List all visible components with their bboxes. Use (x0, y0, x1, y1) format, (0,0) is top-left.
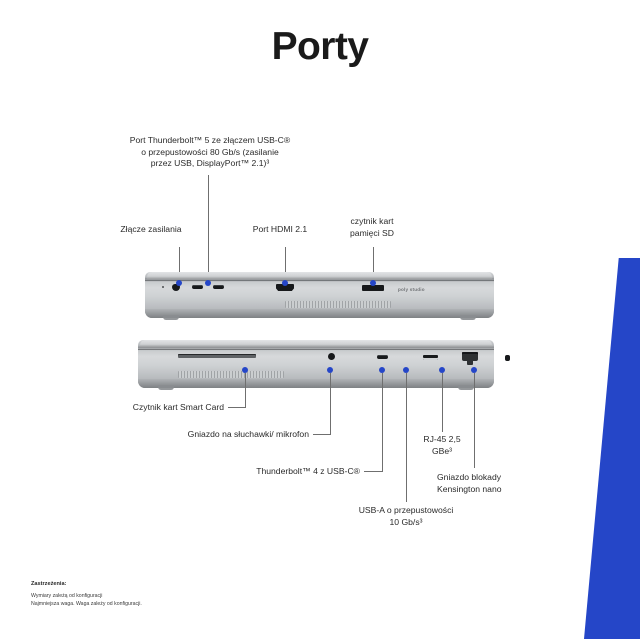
laptop-base-shadow (145, 309, 494, 318)
callout-label-audio-jack: Gniazdo na słuchawki/ mikrofon (148, 429, 309, 441)
laptop-lid-top (147, 272, 492, 279)
thunderbolt5-port-1 (192, 285, 203, 289)
callout-dot-thunderbolt5 (205, 280, 211, 286)
callout-label-kensington: Gniazdo blokady Kensington nano (437, 472, 557, 495)
laptop2-lid-seam (138, 349, 494, 350)
callout-label-thunderbolt5: Port Thunderbolt™ 5 ze złączem USB-C® o … (94, 135, 326, 170)
leader-line-thunderbolt4-v (382, 373, 383, 471)
footer-line-1: Wymiary zależą od konfiguracji (31, 593, 142, 601)
leader-line-audio-jack-h (313, 434, 331, 435)
leader-line-rj45 (442, 373, 443, 432)
callout-dot-power-connector (176, 280, 182, 286)
kensington-lock-slot (505, 355, 510, 361)
leader-line-smart-card-v (245, 373, 246, 407)
callout-label-usb-a: USB-A o przepustowości 10 Gb/s³ (324, 505, 488, 528)
power-led-dot (162, 286, 164, 288)
callout-label-power-connector: Złącze zasilania (96, 224, 206, 236)
blue-corner-wedge (584, 258, 640, 639)
callout-dot-sd-reader (370, 280, 376, 286)
callout-label-hdmi: Port HDMI 2.1 (232, 224, 328, 236)
leader-line-thunderbolt4-h (364, 471, 383, 472)
thunderbolt4-port (377, 355, 388, 359)
laptop2-base-shadow (138, 379, 494, 388)
laptop-bottom-view (138, 340, 494, 388)
audio-jack-port (328, 353, 335, 360)
laptop2-foot-left (158, 385, 174, 390)
footer-title: Zastrzeżenia: (31, 581, 142, 587)
callout-label-smart-card: Czytnik kart Smart Card (88, 402, 224, 414)
thunderbolt5-port-2 (213, 285, 224, 289)
rj45-port (462, 352, 478, 361)
page-title: Porty (0, 27, 640, 66)
footer-line-2: Najmniejsza waga. Waga zależy od konfigu… (31, 601, 142, 609)
laptop-foot-left (163, 315, 179, 320)
laptop2-lid-top (140, 340, 492, 347)
callout-label-sd-reader: czytnik kart pamięci SD (330, 216, 414, 239)
leader-line-thunderbolt5 (208, 175, 209, 277)
usb-a-port (423, 355, 438, 360)
callout-dot-hdmi (282, 280, 288, 286)
leader-line-smart-card-h (228, 407, 246, 408)
rj45-latch (467, 361, 473, 365)
callout-label-rj45: RJ-45 2,5 GBe³ (406, 434, 478, 457)
poly-studio-brand: poly studio (398, 287, 425, 292)
laptop-foot-right (460, 315, 476, 320)
laptop-top-view: poly studio (145, 272, 494, 318)
laptop2-vent (178, 371, 284, 378)
laptop-lid-seam (145, 280, 494, 281)
laptop-vent (285, 301, 391, 308)
laptop2-foot-right (458, 385, 474, 390)
callout-label-thunderbolt4: Thunderbolt™ 4 z USB-C® (216, 466, 360, 478)
footer-disclaimer: Zastrzeżenia: Wymiary zależą od konfigur… (31, 581, 142, 609)
slide-canvas: Porty Port Thunderbolt™ 5 ze złączem USB… (0, 0, 640, 639)
leader-line-audio-jack-v (330, 373, 331, 434)
smart-card-reader-slot (178, 354, 256, 358)
